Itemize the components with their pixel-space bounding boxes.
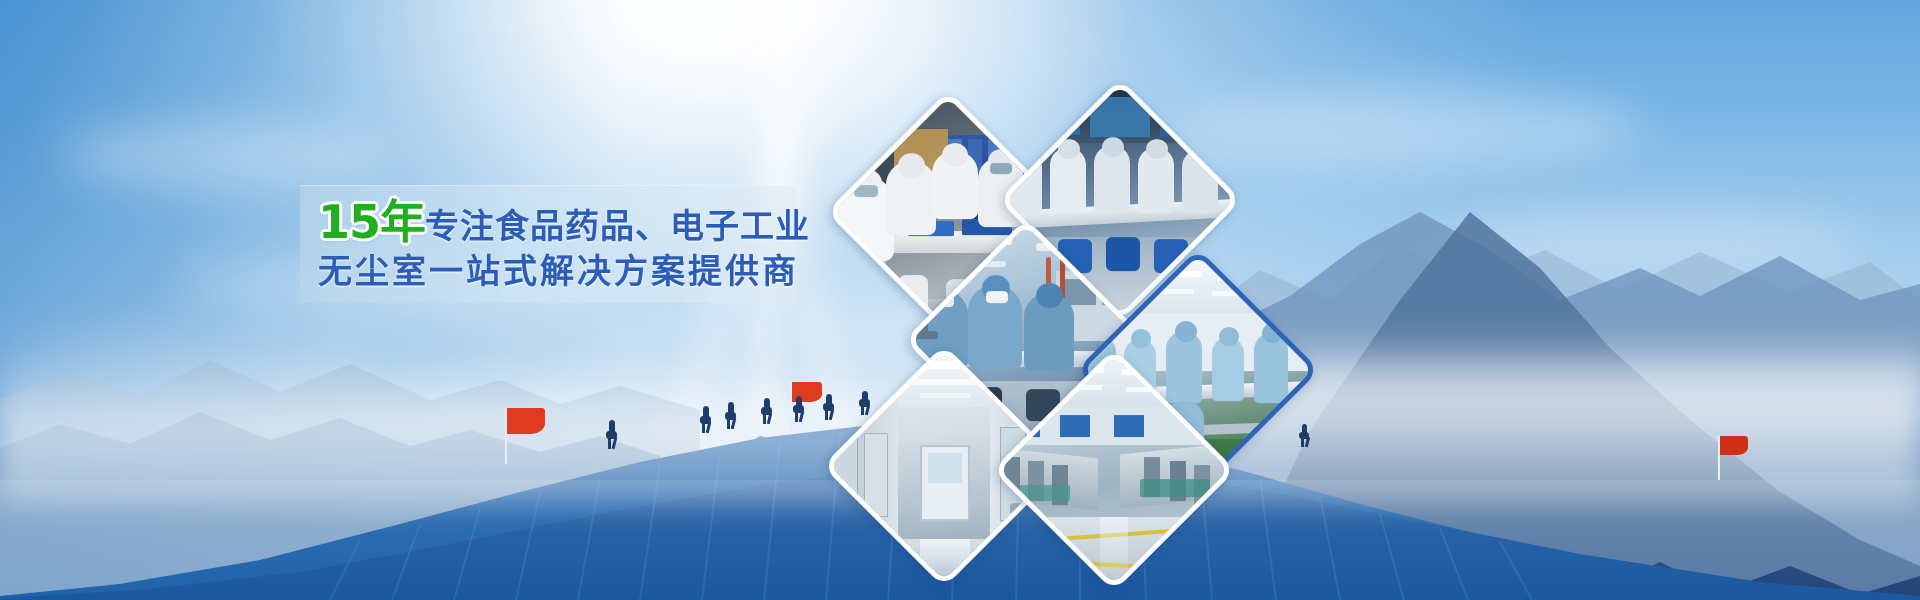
headline-line-2: 无尘室一站式解决方案提供商 <box>318 255 820 289</box>
hero-banner: 15年 专注食品药品、电子工业 无尘室一站式解决方案提供商 <box>0 0 1920 600</box>
headline-block: 15年 专注食品药品、电子工业 无尘室一站式解决方案提供商 <box>300 185 820 303</box>
headline-line-1-rest: 专注食品药品、电子工业 <box>425 210 810 244</box>
headline-line-1: 15年 专注食品药品、电子工业 <box>318 199 820 245</box>
photo-collage <box>828 86 1280 466</box>
years-accent: 15年 <box>318 199 425 245</box>
